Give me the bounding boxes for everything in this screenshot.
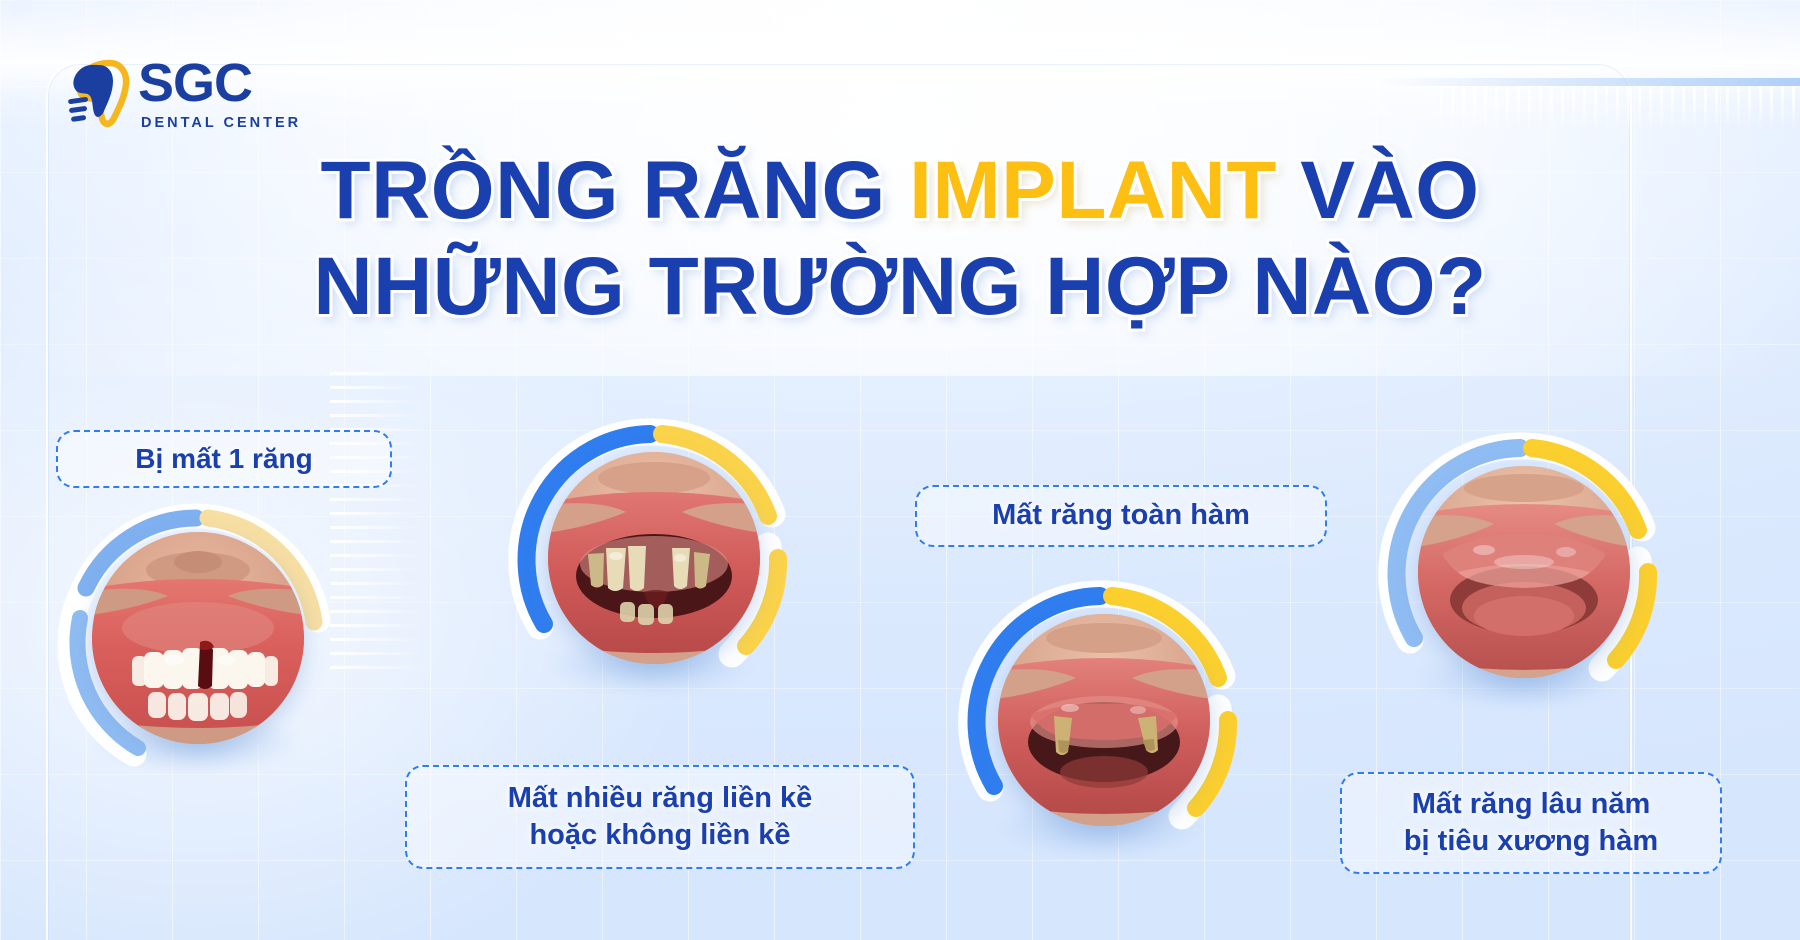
headline-line1-part1: TRỒNG RĂNG [320, 145, 885, 236]
page-title: TRỒNG RĂNG IMPLANT VÀO NHỮNG TRƯỜNG HỢP … [0, 150, 1800, 342]
tooth-logo-icon [66, 58, 132, 128]
case-1-group [56, 500, 336, 780]
case-3-label: Mất răng toàn hàm [915, 485, 1327, 547]
infographic-canvas: SGC DENTAL CENTER TRỒNG RĂNG IMPLANT VÀO… [0, 0, 1800, 940]
ruler-bar-decoration [1380, 78, 1800, 86]
ruler-ticks-decoration [1440, 86, 1800, 128]
case-3-photo [998, 614, 1210, 826]
case-3-group [960, 580, 1244, 864]
case-4-label-line-2: bị tiêu xương hàm [1404, 823, 1658, 860]
headline-line1-part2: VÀO [1300, 145, 1479, 236]
headline-line-2: NHỮNG TRƯỜNG HỢP NÀO? [0, 246, 1800, 328]
case-4-label: Mất răng lâu năm bị tiêu xương hàm [1340, 772, 1722, 874]
headline-highlight-implant: IMPLANT [909, 145, 1277, 236]
case-2-group [510, 418, 794, 702]
case-1-label: Bị mất 1 răng [56, 430, 392, 488]
case-2-label-line-2: hoặc không liền kề [508, 817, 813, 854]
case-2-label-line-1: Mất nhiều răng liền kề [508, 780, 813, 817]
headline-line-1: TRỒNG RĂNG IMPLANT VÀO [0, 150, 1800, 232]
case-2-photo [548, 452, 760, 664]
brand-logo[interactable]: SGC DENTAL CENTER [66, 56, 301, 131]
case-1-label-line-1: Bị mất 1 răng [135, 441, 312, 477]
case-2-label: Mất nhiều răng liền kề hoặc không liền k… [405, 765, 915, 869]
brand-name: SGC [138, 56, 301, 110]
case-4-label-line-1: Mất răng lâu năm [1404, 786, 1658, 823]
ruler-ticks-vertical-decoration [330, 372, 426, 672]
case-1-photo [92, 532, 304, 744]
case-4-group [1380, 432, 1664, 716]
case-3-label-line-1: Mất răng toàn hàm [992, 497, 1250, 534]
case-4-photo [1418, 466, 1630, 678]
brand-tagline: DENTAL CENTER [138, 116, 301, 131]
